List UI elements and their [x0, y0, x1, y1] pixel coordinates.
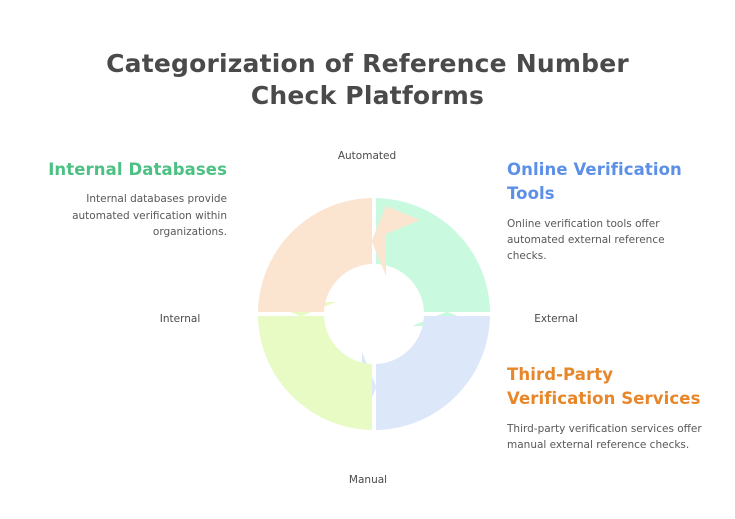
quadrant-heading-internal-databases: Internal Databases	[27, 158, 227, 182]
quadrant-heading-online-verification-tools: Online Verification Tools	[507, 158, 707, 207]
axis-label-automated: Automated	[317, 150, 417, 162]
cycle-diagram	[248, 188, 500, 440]
axis-label-manual: Manual	[318, 474, 418, 486]
quadrant-body-online-verification-tools: Online verification tools offer automate…	[507, 216, 707, 265]
quadrant-block-online-verification-tools: Online Verification Tools Online verific…	[507, 158, 707, 265]
quadrant-block-third-party-verification-services: Third-Party Verification Services Third-…	[507, 363, 707, 453]
quadrant-block-internal-databases: Internal Databases Internal databases pr…	[27, 158, 227, 240]
slide-canvas: Categorization of Reference Number Check…	[0, 0, 735, 519]
quadrant-body-third-party-verification-services: Third-party verification services offer …	[507, 421, 707, 454]
page-title: Categorization of Reference Number Check…	[67, 48, 668, 112]
axis-label-external: External	[506, 313, 606, 325]
axis-label-internal: Internal	[130, 313, 230, 325]
quadrant-body-internal-databases: Internal databases provide automated ver…	[27, 191, 227, 240]
quadrant-heading-third-party-verification-services: Third-Party Verification Services	[507, 363, 707, 412]
